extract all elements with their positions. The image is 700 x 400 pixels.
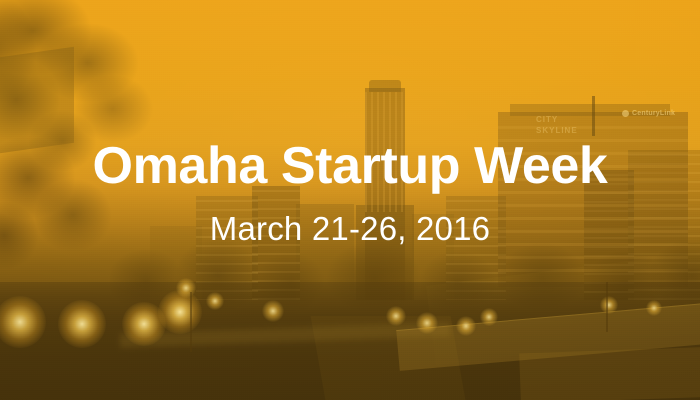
event-hero-banner: CITYSKYLINE CenturyLink Omaha Startup We…	[0, 0, 700, 400]
page-title: Omaha Startup Week	[93, 140, 608, 192]
hero-text-block: Omaha Startup Week March 21-26, 2016	[0, 0, 700, 400]
event-dates: March 21-26, 2016	[210, 192, 490, 245]
